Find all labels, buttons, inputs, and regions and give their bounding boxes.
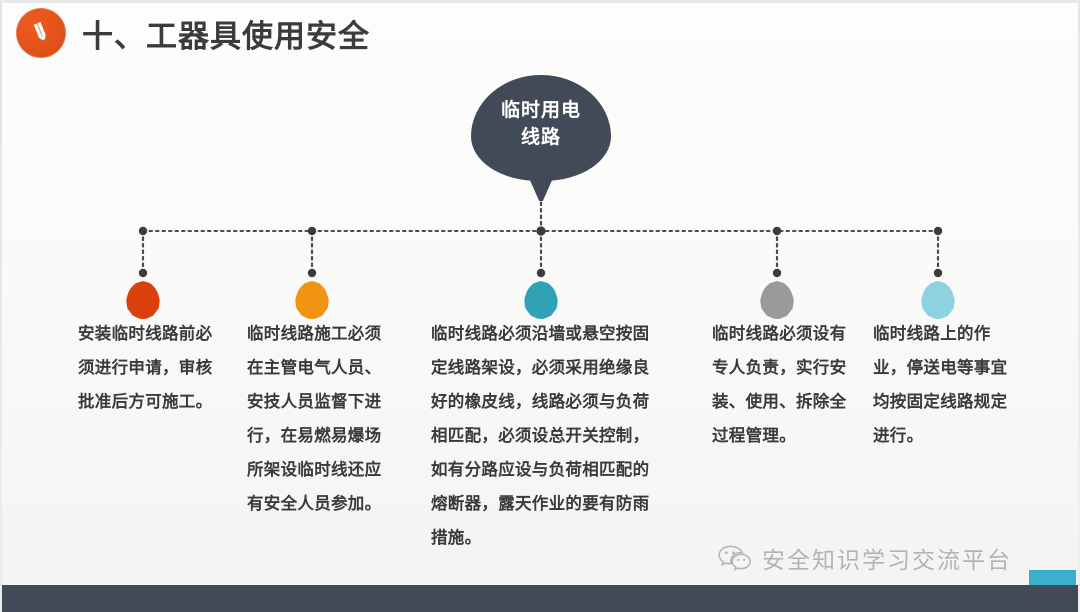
center-node-label-line2: 线路 (471, 124, 611, 151)
watermark: 安全知识学习交流平台 (718, 541, 1012, 575)
drop-marker-3 (524, 281, 558, 319)
drop-marker-1 (126, 281, 160, 319)
branch-text-3: 临时线路必须沿墙或悬空按固定线路架设，必须采用绝缘良好的橡皮线，线路必须与负荷相… (431, 317, 659, 555)
wechat-icon (718, 544, 752, 572)
drop-marker-4 (760, 281, 794, 319)
page-title: 十、工器具使用安全 (82, 11, 370, 56)
bottom-bar (0, 585, 1080, 612)
top-edge-divider (0, 0, 1080, 3)
center-node-label: 临时用电 线路 (471, 97, 611, 151)
center-node-label-line1: 临时用电 (471, 97, 611, 124)
center-node-balloon: 临时用电 线路 (471, 75, 611, 181)
drop-marker-2 (295, 281, 329, 319)
branch-text-2: 临时线路施工必须在主管电气人员、安技人员监督下进行，在易燃易爆场所架设临时线还应… (247, 317, 387, 521)
center-node-tail (518, 153, 564, 201)
branch-text-5: 临时线路上的作业，停送电等事宜均按固定线路规定进行。 (873, 317, 1013, 453)
slide-canvas: 十、工器具使用安全 临时用电 线路 安装临时线路 (0, 0, 1080, 612)
drop-marker-5 (921, 281, 955, 319)
slide-header: 十、工器具使用安全 (16, 8, 370, 58)
branch-text-1: 安装临时线路前必须进行申请，审核批准后方可施工。 (78, 317, 218, 419)
branch-text-4: 临时线路必须设有专人负责，实行安装、使用、拆除全过程管理。 (712, 317, 852, 453)
watermark-text: 安全知识学习交流平台 (762, 541, 1012, 575)
pencil-circle-icon (16, 8, 66, 58)
